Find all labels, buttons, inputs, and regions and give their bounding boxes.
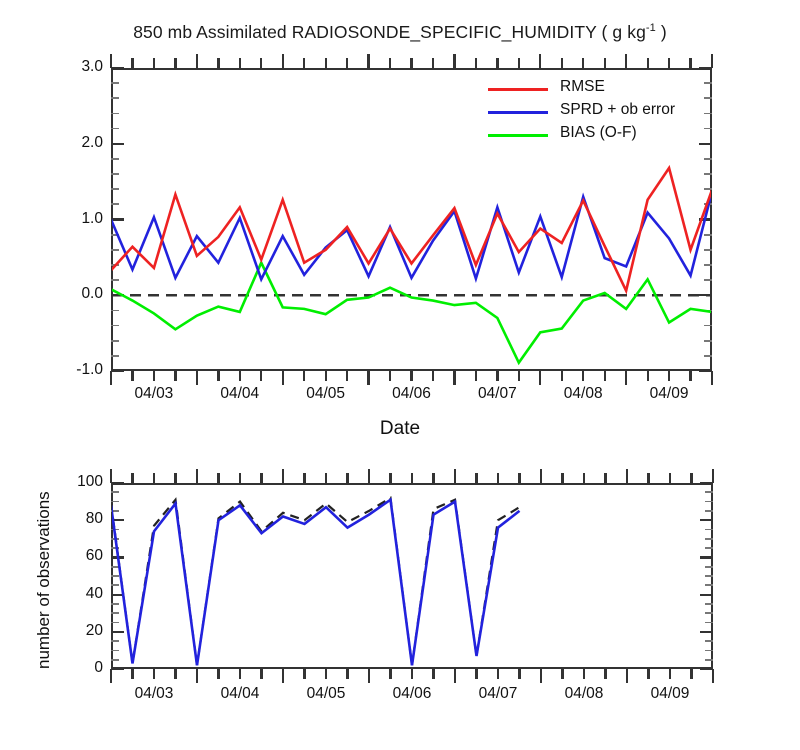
bottom-panel-observation-counts: 10080604020004/0304/0404/0504/0604/0704/… [0, 0, 800, 750]
series-line-nobs-used [111, 500, 520, 666]
figure-canvas: 850 mb Assimilated RADIOSONDE_SPECIFIC_H… [0, 0, 800, 750]
series-layer [0, 0, 800, 750]
bottom-y-axis-label: number of observations [34, 491, 54, 669]
